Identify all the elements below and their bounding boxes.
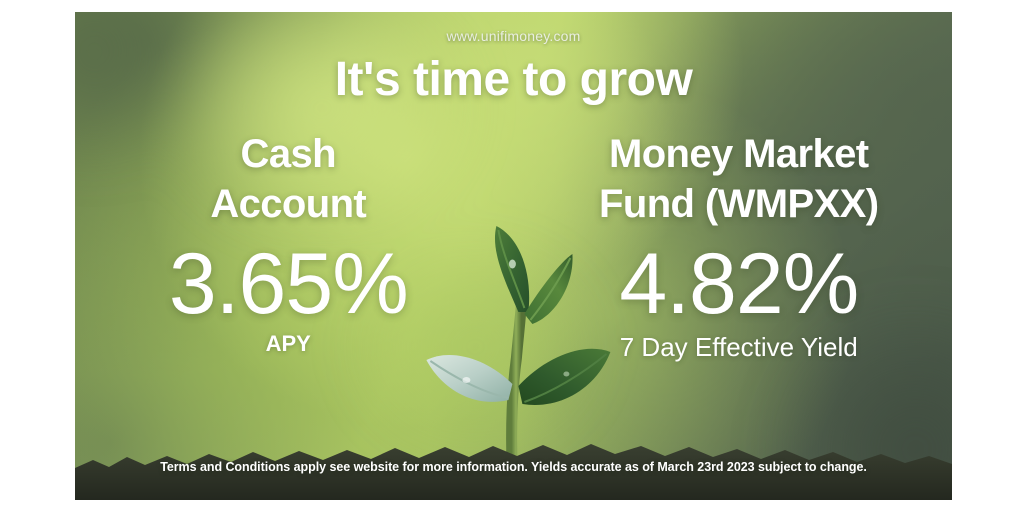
- site-url-text: www.unifimoney.com: [75, 28, 952, 44]
- page-title: It's time to grow: [75, 52, 952, 107]
- rate-label-money-market-fund: 7 Day Effective Yield: [526, 332, 953, 363]
- product-title-cash-account: Cash Account: [75, 130, 502, 229]
- rate-value-money-market-fund: 4.82%: [526, 239, 953, 329]
- rate-value-cash-account: 3.65%: [75, 239, 502, 329]
- disclaimer-text: Terms and Conditions apply see website f…: [75, 460, 952, 474]
- rate-label-cash-account: APY: [75, 331, 502, 357]
- product-columns: Cash Account 3.65% APY Money Market Fund…: [75, 130, 952, 363]
- product-column-money-market-fund: Money Market Fund (WMPXX) 4.82% 7 Day Ef…: [516, 130, 953, 363]
- water-droplet: [462, 377, 470, 383]
- page-canvas: www.unifimoney.com It's time to grow Cas…: [0, 0, 1024, 512]
- product-column-cash-account: Cash Account 3.65% APY: [75, 130, 516, 363]
- product-title-money-market-fund: Money Market Fund (WMPXX): [526, 130, 953, 229]
- promotional-banner: www.unifimoney.com It's time to grow Cas…: [75, 12, 952, 500]
- water-droplet: [563, 372, 569, 377]
